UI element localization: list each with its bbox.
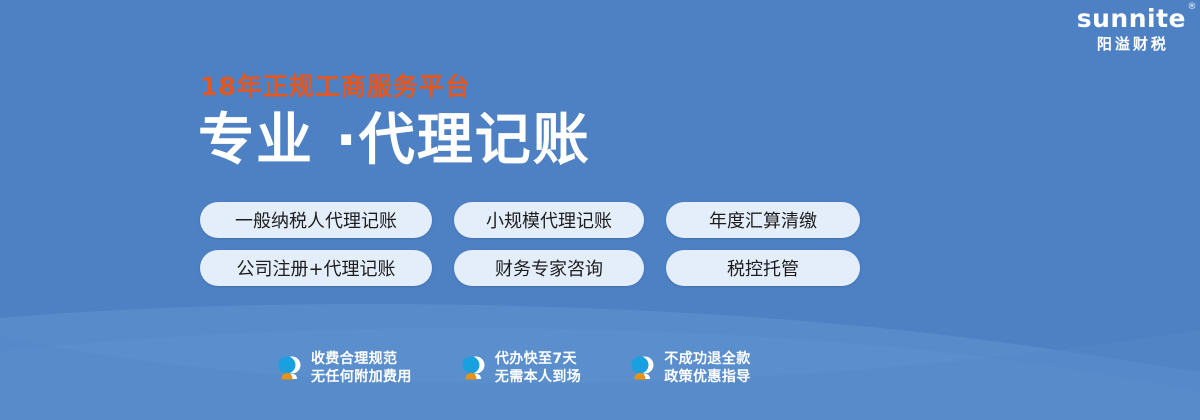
feature-line-2: 政策优惠指导 bbox=[664, 370, 750, 385]
feature-line-2: 无任何附加费用 bbox=[311, 370, 412, 385]
logo-wordmark: sunnite ® bbox=[1077, 6, 1186, 31]
feature-strip: 收费合理规范 无任何附加费用 代办快至7天 无需本人到场 bbox=[276, 352, 751, 386]
brand-logo[interactable]: sunnite ® 阳溢财税 bbox=[1077, 6, 1186, 52]
feature-line-1: 收费合理规范 bbox=[311, 352, 412, 367]
feature-item: 不成功退全款 政策优惠指导 bbox=[629, 352, 750, 386]
feature-text: 不成功退全款 政策优惠指导 bbox=[664, 352, 750, 386]
person-badge-icon bbox=[276, 354, 302, 384]
logo-wordmark-text: sunnite bbox=[1077, 4, 1186, 33]
service-pill[interactable]: 年度汇算清缴 bbox=[666, 202, 860, 238]
hero-kicker: 18年正规工商服务平台 bbox=[200, 74, 471, 99]
feature-line-1: 代办快至7天 bbox=[495, 352, 581, 367]
person-badge-icon bbox=[460, 354, 486, 384]
feature-item: 代办快至7天 无需本人到场 bbox=[460, 352, 581, 386]
service-pill[interactable]: 税控托管 bbox=[666, 250, 860, 286]
service-pill[interactable]: 一般纳税人代理记账 bbox=[200, 202, 432, 238]
promo-banner: sunnite ® 阳溢财税 18年正规工商服务平台 专业 ·代理记账 一般纳税… bbox=[0, 0, 1200, 420]
person-badge-icon bbox=[629, 354, 655, 384]
logo-chinese-name: 阳溢财税 bbox=[1077, 37, 1186, 52]
service-pill[interactable]: 小规模代理记账 bbox=[454, 202, 644, 238]
feature-text: 收费合理规范 无任何附加费用 bbox=[311, 352, 412, 386]
feature-text: 代办快至7天 无需本人到场 bbox=[495, 352, 581, 386]
service-pill[interactable]: 财务专家咨询 bbox=[454, 250, 644, 286]
service-pill[interactable]: 公司注册+代理记账 bbox=[200, 250, 432, 286]
feature-line-1: 不成功退全款 bbox=[664, 352, 750, 367]
feature-item: 收费合理规范 无任何附加费用 bbox=[276, 352, 412, 386]
service-pill-grid: 一般纳税人代理记账 小规模代理记账 年度汇算清缴 公司注册+代理记账 财务专家咨… bbox=[200, 202, 860, 286]
feature-line-2: 无需本人到场 bbox=[495, 370, 581, 385]
registered-trademark-icon: ® bbox=[1188, 3, 1198, 12]
hero-headline: 专业 ·代理记账 bbox=[198, 113, 591, 169]
